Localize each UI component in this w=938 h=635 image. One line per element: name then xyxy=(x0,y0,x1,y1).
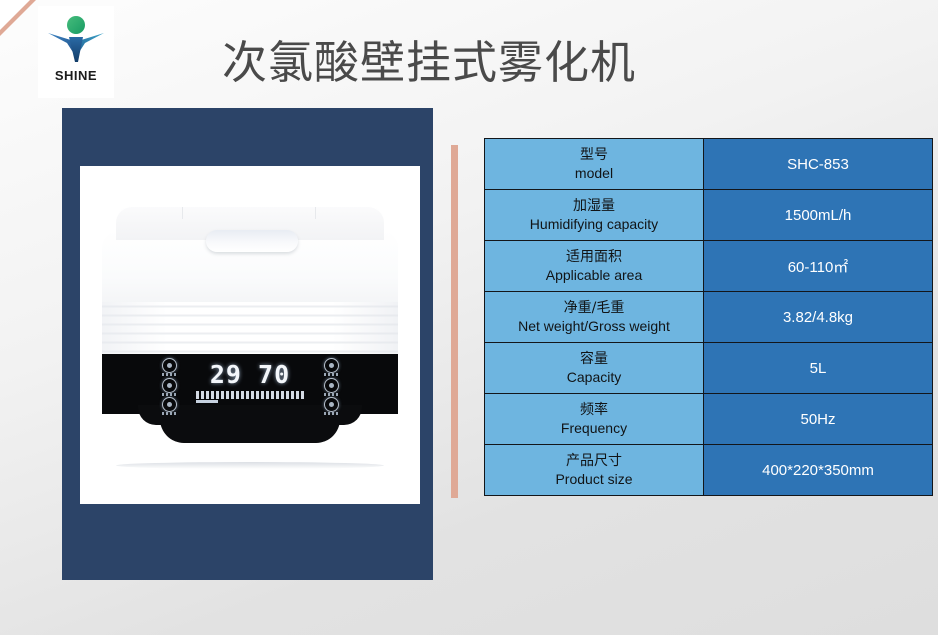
spec-value-cell: SHC-853 xyxy=(704,139,933,190)
lcd-sub-indicator xyxy=(196,400,218,403)
humidifier-lid-seam xyxy=(182,207,316,219)
spec-label-en: model xyxy=(489,164,699,182)
sleep-moon-icon xyxy=(162,397,177,412)
spec-label-cn: 型号 xyxy=(489,146,699,164)
spec-value-cell: 3.82/4.8kg xyxy=(704,292,933,343)
spec-label-cell: 频率 Frequency xyxy=(485,394,704,445)
power-icon xyxy=(324,358,339,373)
table-row: 型号 model SHC-853 xyxy=(485,139,933,190)
spec-value-cell: 5L xyxy=(704,343,933,394)
spec-label-cn: 产品尺寸 xyxy=(489,452,699,470)
spec-label-cn: 容量 xyxy=(489,350,699,368)
spec-label-cn: 加湿量 xyxy=(489,197,699,215)
lcd-readout: 29 70 xyxy=(190,362,310,388)
humidifier-wave-texture xyxy=(102,302,398,356)
spec-label-en: Net weight/Gross weight xyxy=(489,317,699,335)
lcd-display: 29 70 xyxy=(190,362,310,406)
spec-value-cell: 60-110㎡ xyxy=(704,241,933,292)
table-row: 频率 Frequency 50Hz xyxy=(485,394,933,445)
spec-value-cell: 50Hz xyxy=(704,394,933,445)
spec-label-en: Product size xyxy=(489,470,699,488)
timer-clock-icon xyxy=(324,397,339,412)
uv-sterilize-icon xyxy=(324,378,339,393)
humidifier-base-shadow xyxy=(116,462,384,469)
table-row: 净重/毛重 Net weight/Gross weight 3.82/4.8kg xyxy=(485,292,933,343)
table-row: 产品尺寸 Product size 400*220*350mm xyxy=(485,445,933,496)
spec-label-cn: 适用面积 xyxy=(489,248,699,266)
control-panel-left-icons xyxy=(156,358,182,412)
spec-label-cell: 型号 model xyxy=(485,139,704,190)
humidifier-panel-notch-center xyxy=(160,405,340,443)
spec-value-cell: 1500mL/h xyxy=(704,190,933,241)
spec-label-cell: 适用面积 Applicable area xyxy=(485,241,704,292)
spec-label-en: Capacity xyxy=(489,368,699,386)
table-row: 加湿量 Humidifying capacity 1500mL/h xyxy=(485,190,933,241)
spec-label-en: Humidifying capacity xyxy=(489,215,699,233)
product-photo: 29 70 xyxy=(80,166,420,504)
lcd-bar-graph xyxy=(196,391,304,399)
mode-icon xyxy=(162,378,177,393)
vertical-accent-divider xyxy=(451,145,458,498)
spec-label-cell: 加湿量 Humidifying capacity xyxy=(485,190,704,241)
spec-label-en: Frequency xyxy=(489,419,699,437)
humidifier-illustration: 29 70 xyxy=(102,206,398,469)
spec-label-cn: 频率 xyxy=(489,401,699,419)
spec-label-cell: 产品尺寸 Product size xyxy=(485,445,704,496)
table-row: 适用面积 Applicable area 60-110㎡ xyxy=(485,241,933,292)
lcd-humidity: 70 xyxy=(258,360,290,389)
specification-table: 型号 model SHC-853 加湿量 Humidifying capacit… xyxy=(484,138,933,496)
page-title: 次氯酸壁挂式雾化机 xyxy=(222,26,636,91)
specification-table-body: 型号 model SHC-853 加湿量 Humidifying capacit… xyxy=(485,139,933,496)
control-panel-right-icons xyxy=(318,358,344,412)
spec-label-en: Applicable area xyxy=(489,266,699,284)
lcd-temperature: 29 xyxy=(210,360,242,389)
spec-label-cell: 容量 Capacity xyxy=(485,343,704,394)
page-header: SHINE 次氯酸壁挂式雾化机 xyxy=(0,0,938,102)
lcd-separator xyxy=(242,360,258,389)
humidifier-handle xyxy=(206,230,298,252)
table-row: 容量 Capacity 5L xyxy=(485,343,933,394)
mist-level-icon xyxy=(162,358,177,373)
spec-label-cn: 净重/毛重 xyxy=(489,299,699,317)
shine-person-logo-icon xyxy=(45,12,107,72)
spec-value-cell: 400*220*350mm xyxy=(704,445,933,496)
brand-logo: SHINE xyxy=(38,6,114,98)
spec-label-cell: 净重/毛重 Net weight/Gross weight xyxy=(485,292,704,343)
